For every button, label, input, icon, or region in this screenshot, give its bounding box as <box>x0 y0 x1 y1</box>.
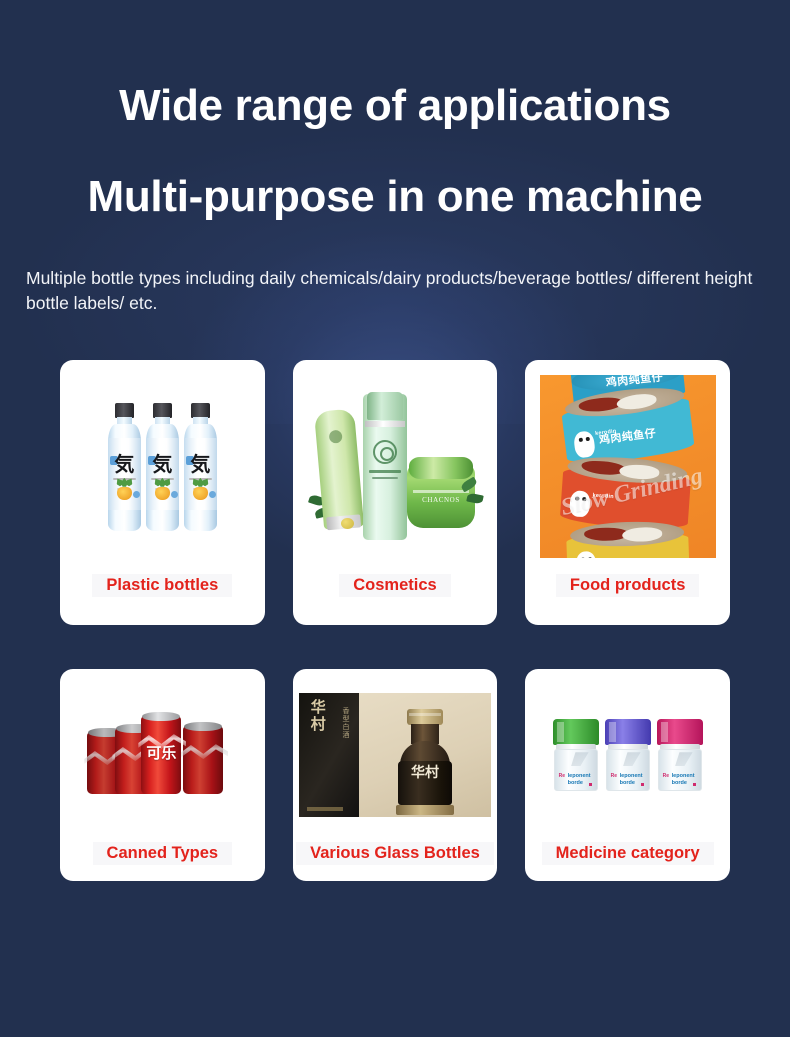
toner-emblem-icon <box>373 440 397 464</box>
bottle-label-dot <box>693 783 696 786</box>
toner-label-line <box>372 477 398 479</box>
toner-ring <box>365 421 405 427</box>
bottle-body: Re leponent borde <box>606 749 650 791</box>
bottle-label-text: borde <box>672 780 687 786</box>
bottle-kanji-text: 华村 <box>398 766 452 780</box>
bottle-label-text: leponent <box>568 773 591 779</box>
jar-brand-text: CHACNOS <box>407 496 475 504</box>
box-side-text: 香型白酒 <box>341 707 351 739</box>
bottle-label-text: borde <box>568 780 583 786</box>
bottle-body: 気 <box>184 424 217 531</box>
plastic-bottle: 気 <box>184 403 217 531</box>
pineapple-icon <box>190 478 211 500</box>
bottle-body: 気 <box>108 424 141 531</box>
plastic-bottle: 気 <box>146 403 179 531</box>
glass-bottles-image: 华村 香型白酒 华村 <box>293 669 498 842</box>
tin-cans-photo: 鸡肉纯鱼仔 kerodin 鸡肉纯鱼仔 <box>540 375 716 558</box>
bottle-label-text: Re <box>559 773 565 779</box>
can-kanji-text: 可乐 <box>141 742 181 763</box>
bottle-kanji: 気 <box>146 454 179 474</box>
jar-band <box>413 490 469 493</box>
bottle-cap-icon <box>407 709 443 725</box>
bottle-body: Re leponent borde <box>658 749 702 791</box>
cosmetics-group: CHACNOS <box>311 392 479 542</box>
bottle-label-text: Re <box>663 773 669 779</box>
medicine-bottle: Re leponent borde <box>657 719 703 791</box>
soda-can-group: 可乐 <box>87 716 237 794</box>
can-contents <box>569 520 684 548</box>
toner-label-line <box>369 470 401 473</box>
card-label-text: Cosmetics <box>339 574 450 597</box>
card-label: Plastic bottles <box>60 574 265 625</box>
bottle-dot-icon <box>171 491 178 498</box>
photo-backdrop: 华村 <box>359 693 491 817</box>
can-chinese-text: 鸡肉纯鱼仔 <box>598 425 657 448</box>
card-label: Food products <box>525 574 730 625</box>
box-kanji-text: 华村 <box>309 699 325 733</box>
medicine-bottle-group: Re leponent borde Re leponent <box>553 719 703 791</box>
jar-lid <box>409 457 473 479</box>
medicine-bottle: Re leponent borde <box>605 719 651 791</box>
page-subtitle: Multiple bottle types including daily ch… <box>26 266 764 316</box>
bottle-kanji: 気 <box>108 454 141 474</box>
medicine-bottle: Re leponent borde <box>553 719 599 791</box>
bottle-label-dot <box>641 783 644 786</box>
card-label: Cosmetics <box>293 574 498 625</box>
bottle-spray-tube <box>671 752 693 766</box>
application-card-food-products[interactable]: 鸡肉纯鱼仔 kerodin 鸡肉纯鱼仔 <box>525 360 730 625</box>
bottle-spray-tube <box>567 752 589 766</box>
olive-fruit-icon <box>341 518 354 529</box>
bottle-cap-icon <box>553 719 599 745</box>
card-label-text: Various Glass Bottles <box>296 842 494 865</box>
bottle-body: 华村 <box>398 761 452 805</box>
toner-cap <box>367 392 403 420</box>
bottle-cap-icon <box>657 719 703 745</box>
bottle-cap-icon <box>153 403 172 418</box>
card-label: Canned Types <box>60 842 265 881</box>
card-label-text: Plastic bottles <box>92 574 232 597</box>
page-title-line-2: Multi-purpose in one machine <box>0 175 790 219</box>
plastic-bottles-image: 気 <box>60 360 265 574</box>
card-label-text: Canned Types <box>93 842 233 865</box>
bottle-cap-icon <box>605 719 651 745</box>
page-root: Wide range of applications Multi-purpose… <box>0 84 790 1037</box>
bottle-label-text: borde <box>620 780 635 786</box>
mascot-icon <box>569 490 591 517</box>
can-lid <box>184 722 222 731</box>
bottle-cap-icon <box>115 403 134 418</box>
mascot-icon <box>573 430 596 458</box>
bottle-spray-tube <box>619 752 641 766</box>
bottle-label: 気 <box>108 438 141 510</box>
gift-box: 华村 香型白酒 <box>299 693 359 817</box>
can-lid <box>142 712 180 721</box>
bottle-label-dot <box>589 783 592 786</box>
card-label: Various Glass Bottles <box>293 842 498 881</box>
bottle-dot-icon <box>133 491 140 498</box>
application-card-plastic-bottles[interactable]: 気 <box>60 360 265 625</box>
box-base <box>307 807 343 811</box>
application-card-medicine[interactable]: Re leponent borde Re leponent <box>525 669 730 881</box>
application-card-cosmetics[interactable]: CHACNOS Cosmetics <box>293 360 498 625</box>
bottle-kanji: 気 <box>184 454 217 474</box>
cream-jar: CHACNOS <box>407 464 475 528</box>
tin-can: kerodin 鸡肉纯鱼仔 <box>561 394 695 467</box>
card-label-text: Medicine category <box>542 842 714 865</box>
tube-logo-icon <box>329 429 343 443</box>
food-products-image: 鸡肉纯鱼仔 kerodin 鸡肉纯鱼仔 <box>525 360 730 574</box>
toner-bottle <box>363 394 407 540</box>
pineapple-icon <box>152 478 173 500</box>
liquor-photo: 华村 香型白酒 华村 <box>299 693 491 817</box>
bottle-foot <box>396 805 454 815</box>
application-card-glass-bottles[interactable]: 华村 香型白酒 华村 <box>293 669 498 881</box>
soda-can: 可乐 <box>141 716 181 794</box>
application-card-grid-row-2: 可乐 Canned Types 华村 香型白酒 <box>60 669 730 881</box>
soda-cans-image: 可乐 <box>60 669 265 842</box>
application-card-grid-row-1: 気 <box>60 360 730 625</box>
soda-can <box>183 726 223 794</box>
bottle-group: 気 <box>108 403 217 531</box>
cosmetics-image: CHACNOS <box>293 360 498 574</box>
liquor-bottle: 华村 <box>394 709 456 815</box>
card-label: Medicine category <box>525 842 730 881</box>
bottle-body: Re leponent borde <box>554 749 598 791</box>
bottle-body: 気 <box>146 424 179 531</box>
bottle-cap-icon <box>191 403 210 418</box>
can-brand-text: kerodin <box>592 493 614 500</box>
medicine-bottles-image: Re leponent borde Re leponent <box>525 669 730 842</box>
can-ribbon <box>180 740 228 762</box>
bottle-label: 気 <box>146 438 179 510</box>
bottle-dot-icon <box>209 491 216 498</box>
application-card-canned-types[interactable]: 可乐 Canned Types <box>60 669 265 881</box>
bottle-label-text: leponent <box>620 773 643 779</box>
page-title-line-1: Wide range of applications <box>0 84 790 128</box>
plastic-bottle: 気 <box>108 403 141 531</box>
tin-can <box>566 531 690 558</box>
bottle-label: 気 <box>184 438 217 510</box>
bottle-label-text: leponent <box>672 773 695 779</box>
bottle-label-text: Re <box>611 773 617 779</box>
can-contents <box>566 454 687 486</box>
mascot-icon <box>575 551 596 558</box>
pineapple-icon <box>114 478 135 500</box>
card-label-text: Food products <box>556 574 699 597</box>
